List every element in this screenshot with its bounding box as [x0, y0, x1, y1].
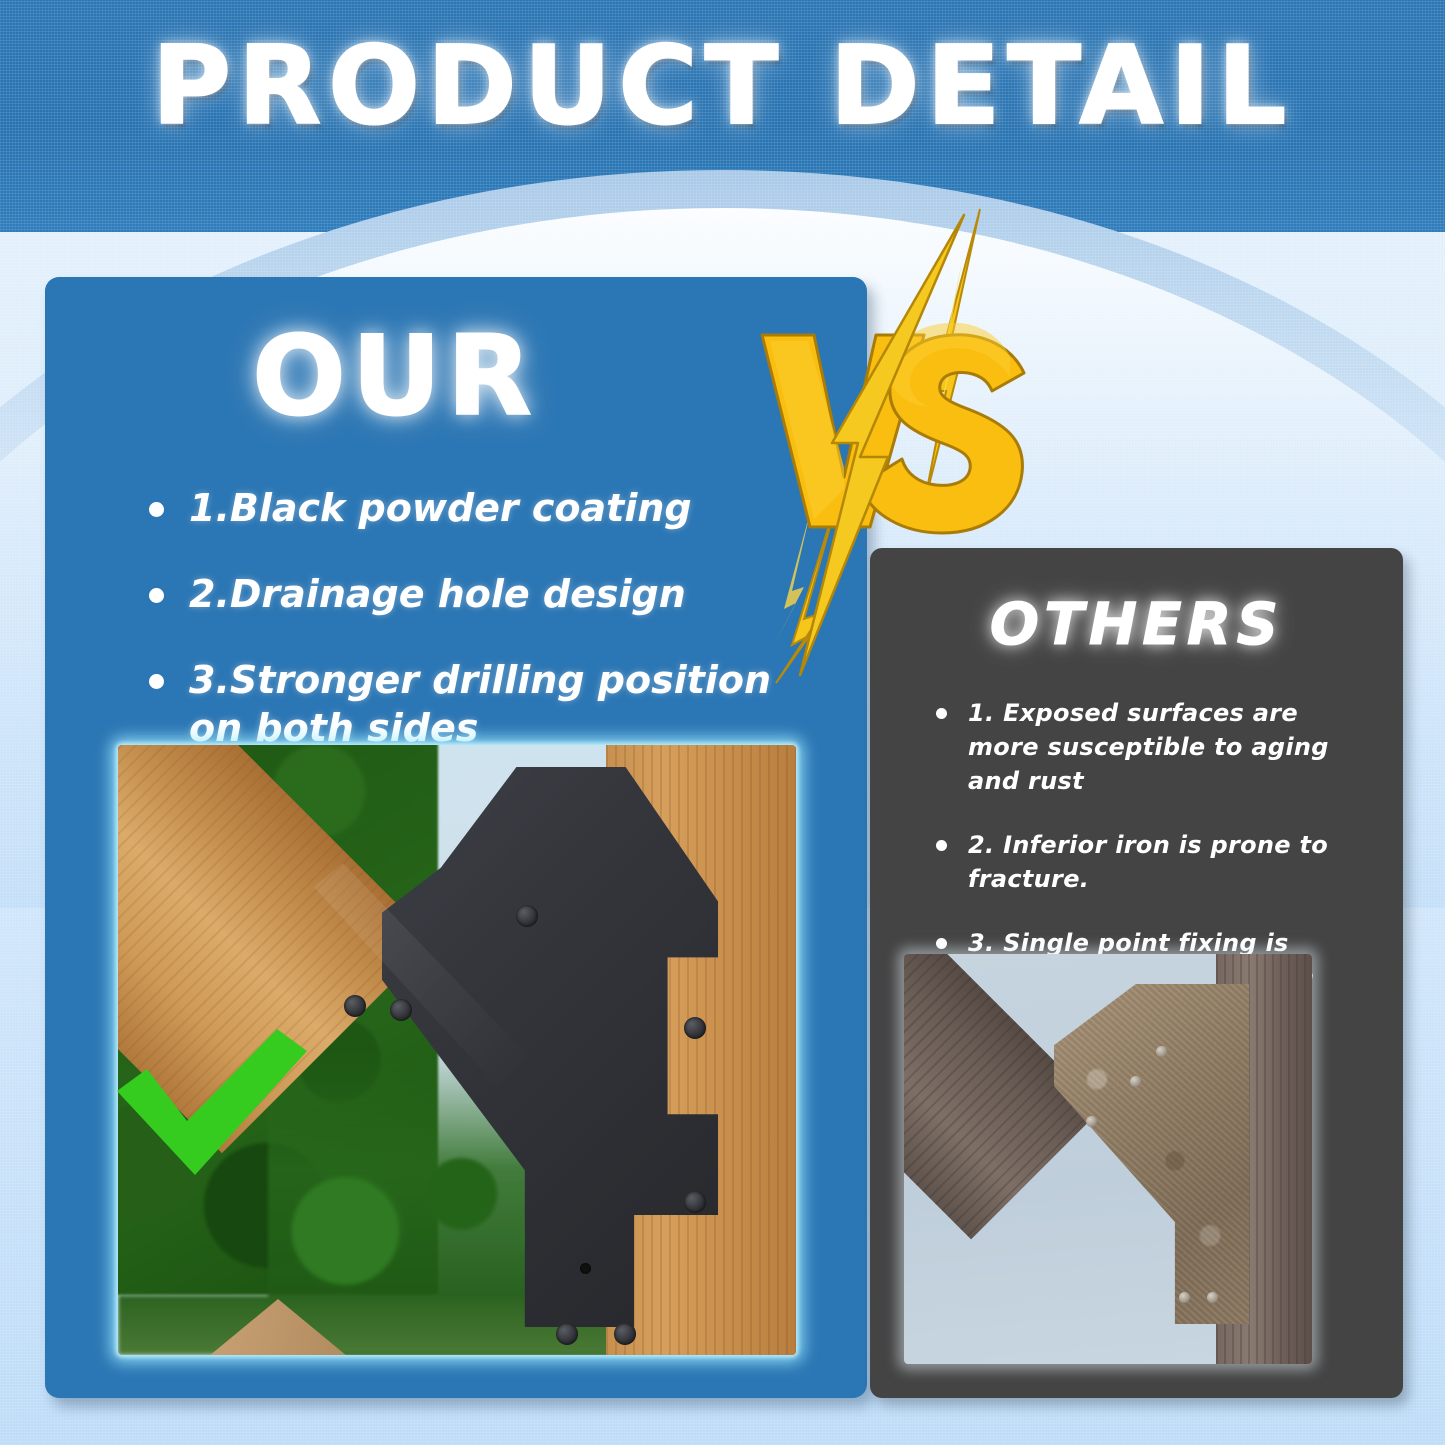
our-heading: OUR: [45, 312, 745, 440]
bracket-bolt: [556, 1323, 578, 1345]
bracket-screw: [1130, 1076, 1141, 1087]
list-item: 3.Stronger drilling position on both sid…: [141, 657, 831, 753]
bracket-bolt: [614, 1323, 636, 1345]
bracket-bolt: [516, 905, 538, 927]
others-product-photo: [904, 954, 1312, 1364]
bracket-bolt: [344, 995, 366, 1017]
bracket-screw: [1207, 1292, 1218, 1303]
bracket-bolt: [684, 1191, 706, 1213]
green-check-icon: [111, 1029, 311, 1179]
list-item: 1.Black powder coating: [141, 485, 831, 533]
others-photo-scene: [904, 954, 1312, 1364]
our-panel: OUR 1.Black powder coating 2.Drainage ho…: [45, 277, 867, 1398]
bracket-screw: [1156, 1046, 1167, 1057]
list-item: 1. Exposed surfaces are more susceptible…: [928, 696, 1358, 798]
drainage-hole: [580, 1263, 591, 1274]
list-item: 2.Drainage hole design: [141, 571, 831, 619]
product-detail-infographic: PRODUCT DETAIL OUR 1.Black powder coatin…: [0, 0, 1445, 1445]
page-title: PRODUCT DETAIL: [0, 24, 1445, 149]
bracket-screw: [1086, 1116, 1097, 1127]
list-item: 2. Inferior iron is prone to fracture.: [928, 828, 1358, 896]
bracket-screw: [1179, 1292, 1190, 1303]
bracket-bolt: [684, 1017, 706, 1039]
bracket-bolt: [390, 999, 412, 1021]
vs-badge: [748, 205, 1048, 685]
